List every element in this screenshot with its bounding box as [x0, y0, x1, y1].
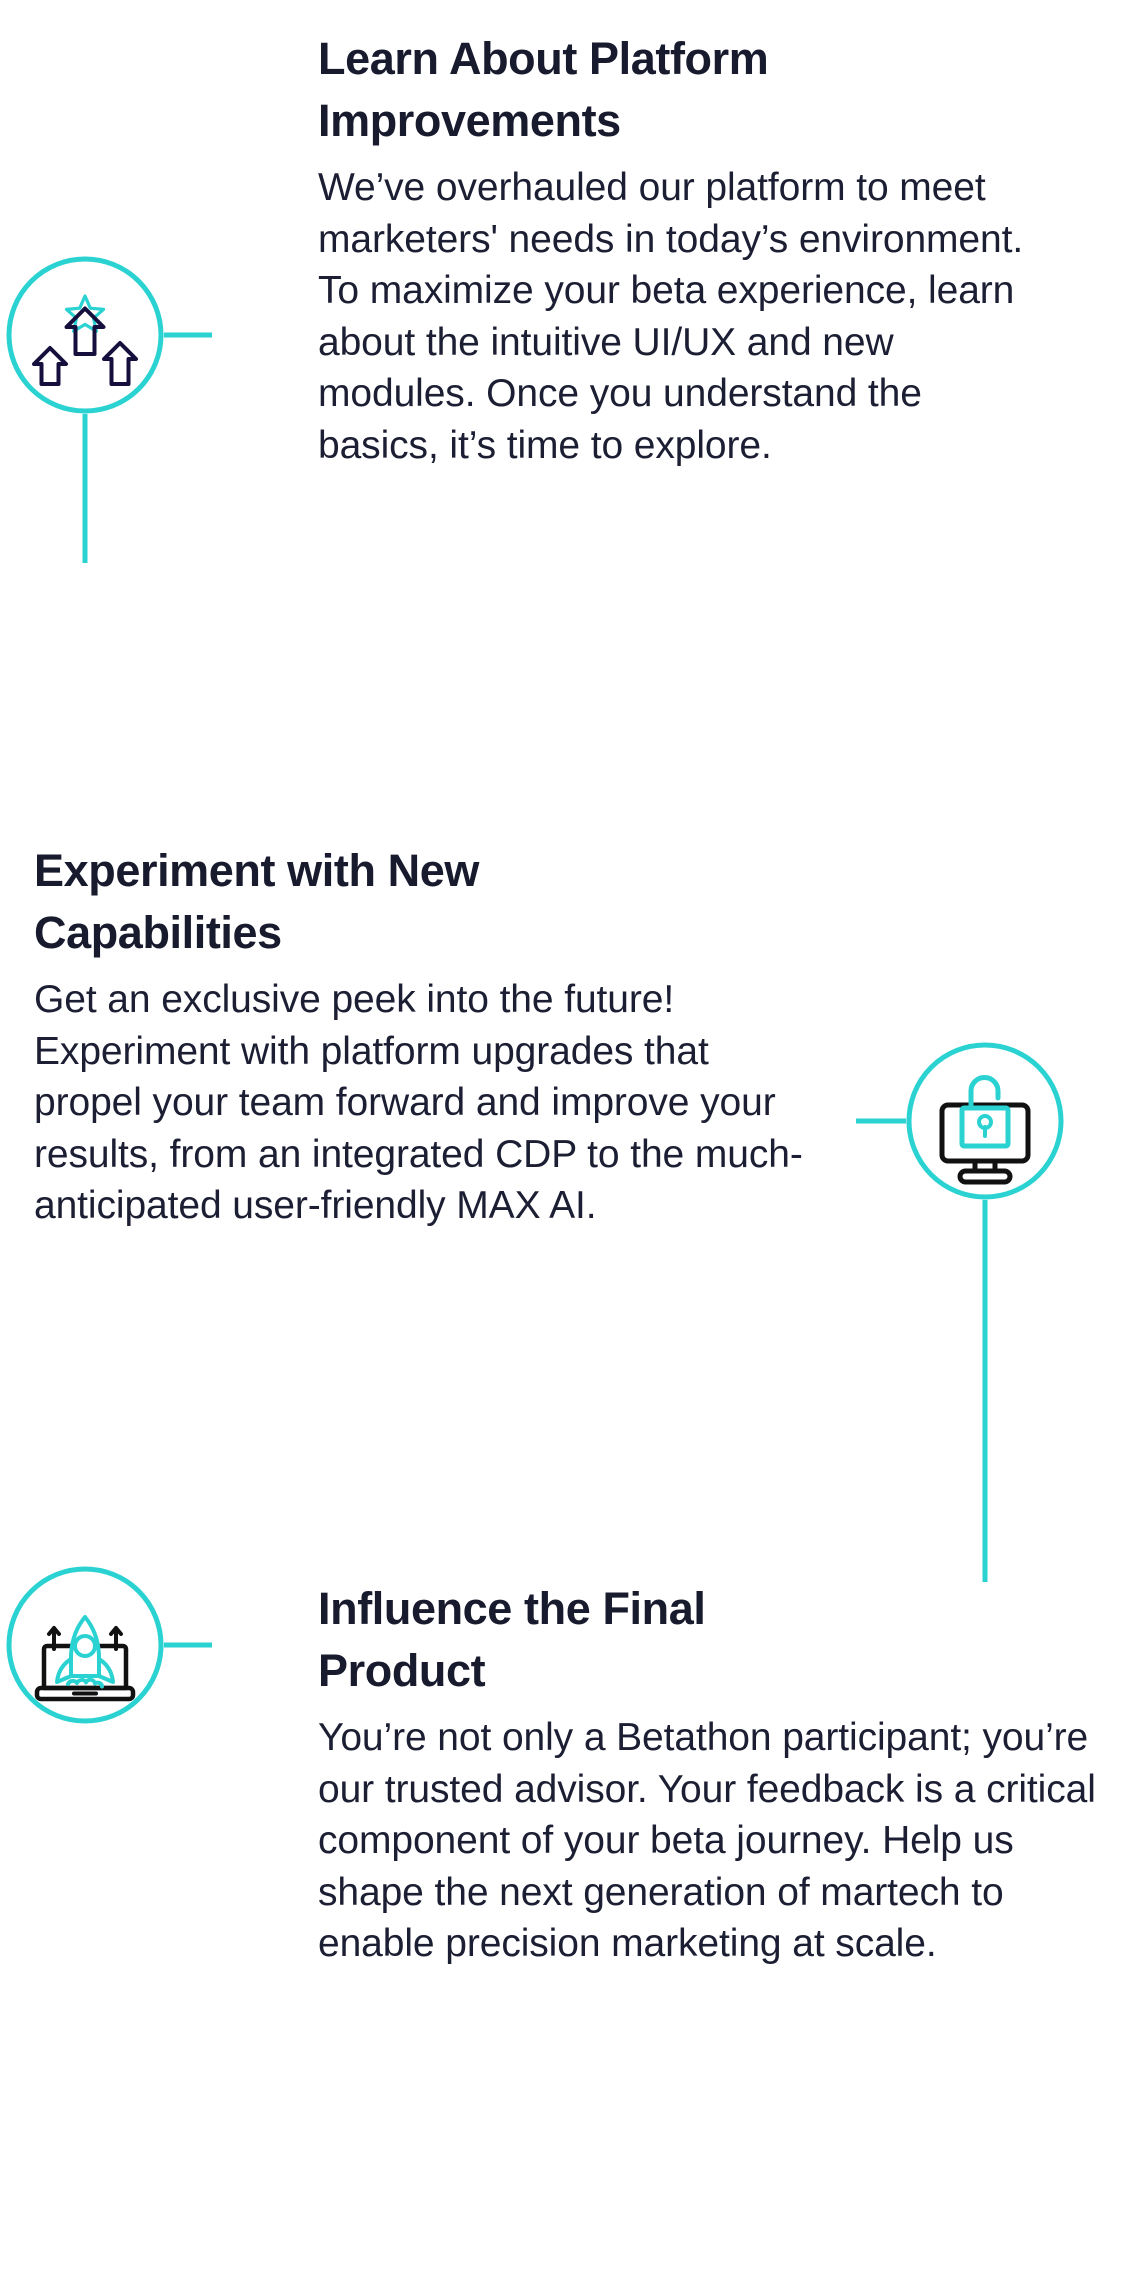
section-3-body: You’re not only a Betathon participant; …: [318, 1712, 1100, 1969]
section-3-text: Influence the Final Product You’re not o…: [318, 1578, 1108, 1970]
laptop-with-rocket-launch-glyph: [6, 1566, 164, 1724]
section-2-heading: Experiment with New Capabilities: [34, 840, 654, 964]
section-1-heading: Learn About Platform Improvements: [318, 28, 958, 152]
section-1-text: Learn About Platform Improvements We’ve …: [318, 28, 1036, 471]
monitor-with-unlocked-padlock-glyph: [906, 1042, 1064, 1200]
three-arrows-up-with-star-icon: [6, 256, 164, 414]
monitor-with-unlocked-padlock-icon: [906, 1042, 1064, 1200]
section-1-body: We’ve overhauled our platform to meet ma…: [318, 162, 1030, 471]
infographic-canvas: Learn About Platform Improvements We’ve …: [0, 0, 1143, 2275]
three-arrows-up-with-star-glyph: [6, 256, 164, 414]
laptop-with-rocket-launch-icon: [6, 1566, 164, 1724]
section-2-text: Experiment with New Capabilities Get an …: [34, 840, 824, 1232]
section-3-heading: Influence the Final Product: [318, 1578, 878, 1702]
section-2-body: Get an exclusive peek into the future! E…: [34, 974, 814, 1231]
